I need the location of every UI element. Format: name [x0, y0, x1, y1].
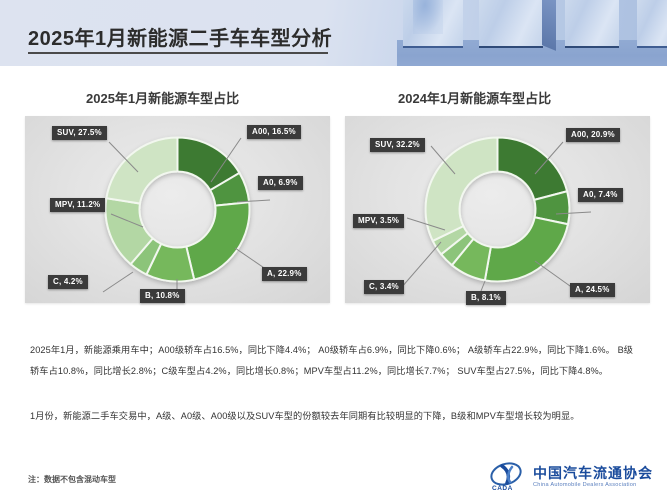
slice-a — [485, 217, 568, 281]
header-cube-1 — [403, 0, 463, 48]
header-cube-2 — [479, 0, 543, 48]
paragraph-summary: 1月份，新能源二手车交易中，A级、A0级、A00级以及SUV车型的份额较去年同期… — [30, 406, 638, 427]
label-a-2024: A, 24.5% — [570, 283, 615, 297]
header-decoration-cubes — [397, 0, 667, 66]
title-underline — [28, 52, 328, 54]
slice-suv — [426, 138, 498, 241]
slice-suv — [106, 138, 177, 204]
organization-logo: CADA 中国汽车流通协会 China Automobile Dealers A… — [488, 462, 653, 492]
slice-a00 — [498, 138, 568, 200]
logo-name-en: China Automobile Dealers Association — [533, 482, 653, 488]
chart-title-2025: 2025年1月新能源车型占比 — [86, 88, 239, 107]
label-suv-2025: SUV, 27.5% — [52, 126, 107, 140]
paragraph-statistics: 2025年1月，新能源乘用车中；A00级轿车占16.5%，同比下降4.4%； A… — [30, 340, 638, 382]
label-c-2025: C, 4.2% — [48, 275, 88, 289]
label-mpv-2024: MPV, 3.5% — [353, 214, 404, 228]
header-cube-4 — [637, 0, 667, 48]
logo-name-cn: 中国汽车流通协会 — [533, 466, 653, 480]
chart-title-2024: 2024年1月新能源车型占比 — [398, 88, 551, 107]
svg-text:CADA: CADA — [492, 485, 513, 492]
label-a00-2024: A00, 20.9% — [566, 128, 620, 142]
label-c-2024: C, 3.4% — [364, 280, 404, 294]
label-b-2024: B, 8.1% — [466, 291, 506, 305]
header-cube-3 — [565, 0, 619, 48]
label-a00-2025: A00, 16.5% — [247, 125, 301, 139]
label-a0-2024: A0, 7.4% — [578, 188, 623, 202]
label-a0-2025: A0, 6.9% — [258, 176, 303, 190]
cada-emblem-icon: CADA — [488, 462, 528, 492]
label-b-2025: B, 10.8% — [140, 289, 185, 303]
page-header: 2025年1月新能源二手车车型分析 — [0, 0, 667, 66]
label-a-2025: A, 22.9% — [262, 267, 307, 281]
slice-a — [186, 202, 249, 279]
label-suv-2024: SUV, 32.2% — [370, 138, 425, 152]
label-mpv-2025: MPV, 11.2% — [50, 198, 105, 212]
page-title: 2025年1月新能源二手车车型分析 — [28, 22, 332, 51]
footnote: 注：数据不包含混动车型 — [28, 474, 116, 485]
